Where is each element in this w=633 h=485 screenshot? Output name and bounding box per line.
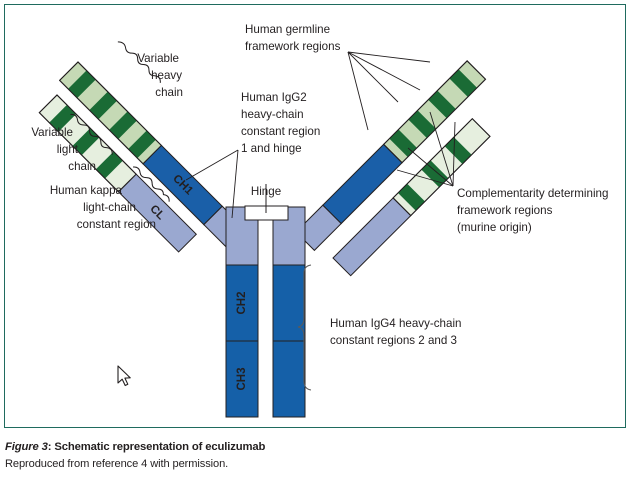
igg2-line-3: constant region <box>241 125 320 138</box>
variable-light-line-1: Variable <box>31 126 73 139</box>
variable-light-line-3: chain <box>68 160 96 173</box>
figure-caption-credit: Reproduced from reference 4 with permiss… <box>5 458 625 470</box>
antibody-schematic-diagram: CH1 CL <box>0 0 633 432</box>
variable-light-line-2: light <box>57 143 79 156</box>
igg4-line-1: Human IgG4 heavy-chain <box>330 317 461 330</box>
germline-line-1: Human germline <box>245 23 330 36</box>
right-ch2-domain <box>273 265 305 341</box>
igg2-line-2: heavy-chain <box>241 108 304 121</box>
igg2-line-4: 1 and hinge <box>241 142 302 155</box>
cdr-line-3: (murine origin) <box>457 221 532 234</box>
cdr-line-1: Complementarity determining <box>457 187 608 200</box>
hinge-label: Hinge <box>251 185 281 198</box>
mouse-cursor <box>118 366 130 386</box>
variable-heavy-chain-annotation: Variable heavy chain <box>118 39 183 99</box>
figure-caption-text: : Schematic representation of eculizumab <box>48 441 265 453</box>
human-kappa-line-3: constant region <box>77 218 156 231</box>
right-stem <box>273 207 305 417</box>
cdr-line-2: framework regions <box>457 204 553 217</box>
variable-heavy-line-3: chain <box>155 86 183 99</box>
figure-caption-title: Figure 3: Schematic representation of ec… <box>5 441 625 453</box>
variable-heavy-line-1: Variable <box>137 52 179 65</box>
left-ch3-label: CH3 <box>236 367 248 390</box>
igg2-line-1: Human IgG2 <box>241 91 307 104</box>
left-stem: CH2 CH3 <box>226 207 258 417</box>
human-kappa-line-2: light-chain <box>83 201 136 214</box>
igg4-annotation: Human IgG4 heavy-chain constant regions … <box>298 265 461 390</box>
human-kappa-line-1: Human kappa <box>50 184 123 197</box>
right-ch3-domain <box>273 341 305 417</box>
figure-number: Figure 3 <box>5 441 48 453</box>
left-ch2-label: CH2 <box>236 291 248 314</box>
igg4-line-2: constant regions 2 and 3 <box>330 334 457 347</box>
germline-line-2: framework regions <box>245 40 341 53</box>
